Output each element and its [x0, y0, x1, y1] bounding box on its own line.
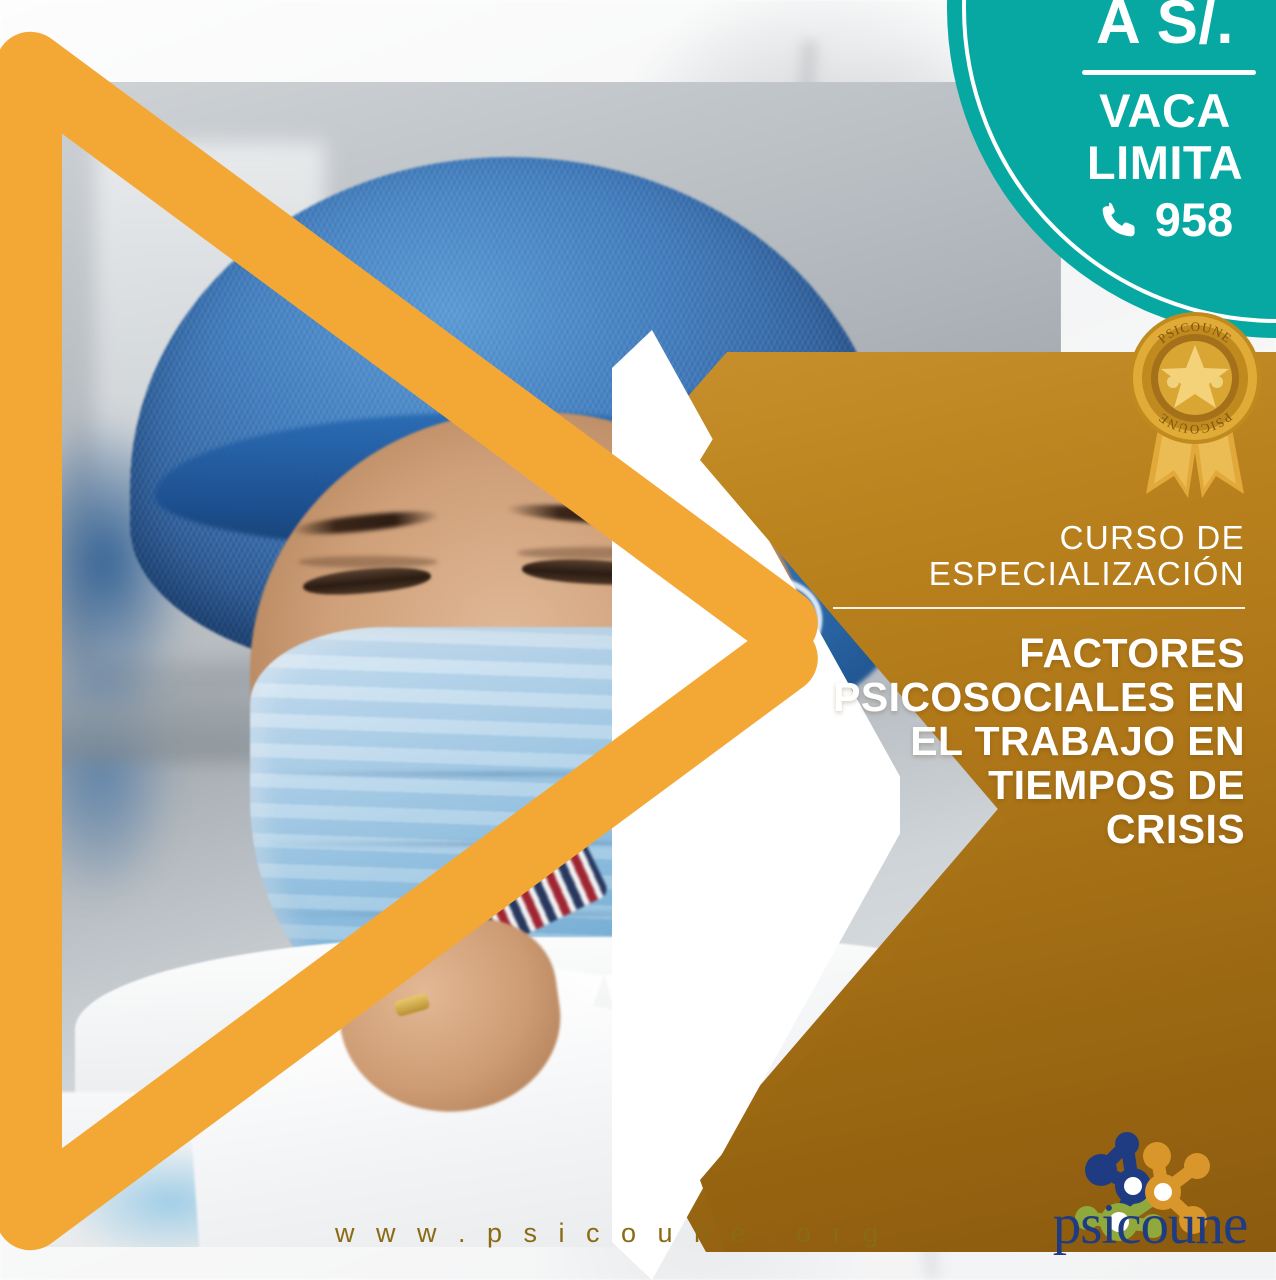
phone-icon	[1097, 198, 1141, 242]
promo-poster: CURSO DE ESPECIALIZACIÓN FACTORES PSICOS…	[0, 0, 1276, 1280]
promo-vacancies-line2: LIMITA	[1000, 137, 1276, 189]
promo-price: A S/.	[1000, 0, 1276, 54]
course-kicker-line2: ESPECIALIZACIÓN	[760, 556, 1245, 592]
course-title: FACTORES PSICOSOCIALES EN EL TRABAJO EN …	[760, 631, 1245, 851]
eyelid	[298, 556, 438, 568]
promo-phone-number: 958	[1155, 195, 1233, 245]
course-title-line3: EL TRABAJO EN	[760, 719, 1245, 763]
course-text-block: CURSO DE ESPECIALIZACIÓN FACTORES PSICOS…	[760, 520, 1245, 851]
course-title-line5: CRISIS	[760, 807, 1245, 851]
promo-circle-content: A S/. VACA LIMITA 958	[1000, 0, 1276, 245]
website-url: w w w . p s i c o u n e . o r g	[330, 1218, 890, 1249]
course-title-line1: FACTORES	[760, 631, 1245, 675]
course-title-line4: TIEMPOS DE	[760, 763, 1245, 807]
orange-chevron-left	[0, 62, 62, 1222]
course-title-line2: PSICOSOCIALES EN	[760, 675, 1245, 719]
promo-phone: 958	[1000, 195, 1276, 245]
kicker-divider	[833, 607, 1245, 609]
award-badge: PSICOUNE PSICOUNE	[1112, 308, 1276, 504]
psicoune-wordmark: psicoune	[1030, 1196, 1270, 1253]
course-kicker: CURSO DE ESPECIALIZACIÓN	[760, 520, 1245, 592]
promo-vacancies-line1: VACA	[1000, 85, 1276, 137]
course-kicker-line1: CURSO DE	[760, 520, 1245, 556]
promo-divider	[1082, 70, 1256, 75]
